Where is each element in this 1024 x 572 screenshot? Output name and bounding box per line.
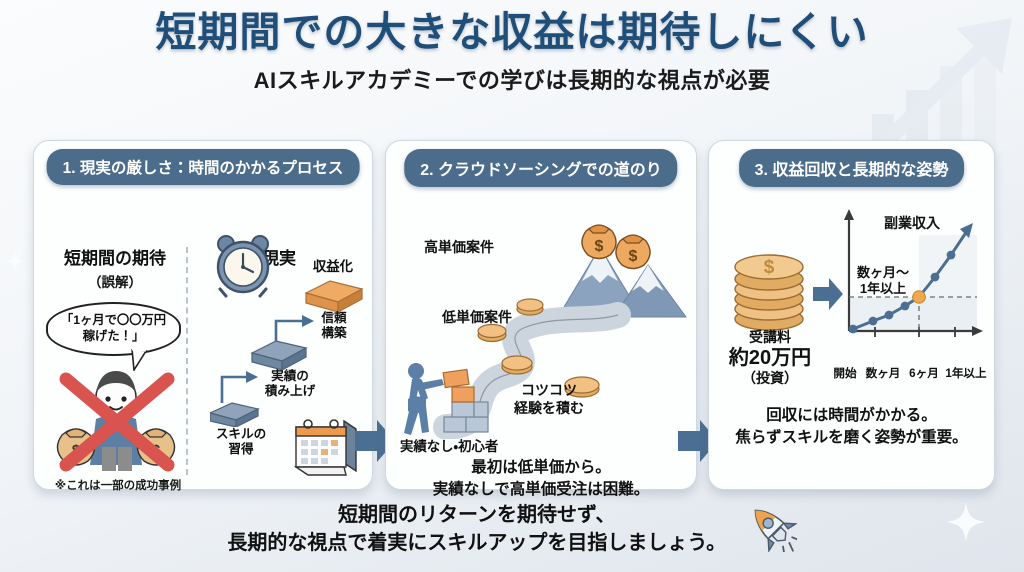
x-tick-label-1: 数ヶ月	[861, 365, 905, 381]
step-label-monetization: 収益化	[300, 259, 366, 275]
panel-1-header: 1. 現実の厳しさ：時間のかかるプロセス	[47, 149, 360, 185]
header: 短期間での大きな収益は期待しにくい AIスキルアカデミーでの学びは長期的な視点が…	[0, 10, 1024, 95]
label-beginner: 実績なし・初心者	[400, 435, 498, 455]
step-label-skill: スキルの 習得	[204, 427, 278, 457]
footnote-success-cases: ※これは一部の成功事例	[44, 477, 192, 493]
panel-2-header: 2. クラウドソーシングでの道のり	[404, 149, 677, 187]
worker-bricks-illustration	[400, 359, 510, 445]
svg-text:$: $	[595, 238, 604, 255]
label-high-rate: 高単価案件	[424, 237, 494, 257]
money-bag-icon: $	[616, 235, 650, 269]
footer: 短期間のリターンを期待せず、 長期的な視点で着実にスキルアップを目指しましょう。	[0, 500, 1024, 558]
coin-icon	[478, 325, 506, 342]
panel-1-divider	[186, 247, 188, 475]
panel-1-body: 短期間の期待 （誤解） 現実 「1ヶ月で〇〇万円 稼げた！」	[34, 189, 372, 489]
calendar-icon	[286, 411, 362, 481]
page-subtitle: AIスキルアカデミーでの学びは長期的な視点が必要	[0, 63, 1024, 95]
panel-crowdsourcing: 2. クラウドソーシングでの道のり	[385, 140, 697, 490]
speech-bubble: 「1ヶ月で〇〇万円 稼げた！」	[46, 302, 181, 356]
svg-text:$: $	[764, 257, 775, 278]
panel-recovery: 3. 収益回収と長期的な姿勢 $ 受講料 約20万円 （投資）	[708, 140, 995, 490]
money-bag-icon: $	[582, 225, 616, 259]
panel-2-body: $ $	[386, 189, 696, 489]
coin-icon	[517, 299, 543, 315]
expectation-column-label: 短期間の期待 （誤解）	[52, 244, 178, 291]
label-grind: コツコツ 経験を積む	[514, 381, 584, 417]
footer-message: 短期間のリターンを期待せず、 長期的な視点で着実にスキルアップを目指しましょう。	[227, 501, 726, 558]
panels-container: 1. 現実の厳しさ：時間のかかるプロセス 短期間の期待 （誤解） 現実 「1ヶ月…	[0, 140, 1024, 490]
speech-line-2: 稼げた！」	[61, 329, 166, 345]
panel-reality: 1. 現実の厳しさ：時間のかかるプロセス 短期間の期待 （誤解） 現実 「1ヶ月…	[33, 140, 373, 490]
panel-3-caption: 回収には時間がかかる。 焦らずスキルを磨く姿勢が重要。	[709, 405, 994, 450]
chart-annotation: 数ヶ月〜 1年以上	[837, 265, 929, 298]
footer-line-2: 長期的な視点で着実にスキルアップを目指しましょう。	[227, 529, 726, 557]
panel-2-caption: 最初は低単価から。 実績なしで高単価受注は困難。	[386, 457, 696, 502]
crossed-out-person-illustration: $ $	[52, 361, 180, 473]
panel-3-header: 3. 収益回収と長期的な姿勢	[739, 149, 965, 187]
x-tick-label-0: 開始	[825, 365, 865, 381]
page-title: 短期間での大きな収益は期待しにくい	[0, 10, 1024, 55]
chart-title: 副業収入	[884, 213, 940, 233]
svg-text:$: $	[629, 248, 638, 265]
label-low-rate: 低単価案件	[442, 307, 512, 327]
step-label-trust: 信頼 構築	[306, 311, 362, 341]
x-tick-label-2: 6ヶ月	[903, 365, 945, 381]
investment-label: 受講料 約20万円 （投資）	[715, 329, 825, 388]
coin-stack-icon: $	[723, 237, 815, 333]
speech-line-1: 「1ヶ月で〇〇万円	[61, 313, 166, 329]
footer-line-1: 短期間のリターンを期待せず、	[227, 501, 726, 529]
rocket-icon	[745, 500, 797, 552]
x-tick-label-3: 1年以上	[941, 365, 991, 381]
panel-3-body: $ 受講料 約20万円 （投資）	[709, 189, 994, 489]
step-label-track-record: 実績の 積み上げ	[252, 369, 328, 399]
